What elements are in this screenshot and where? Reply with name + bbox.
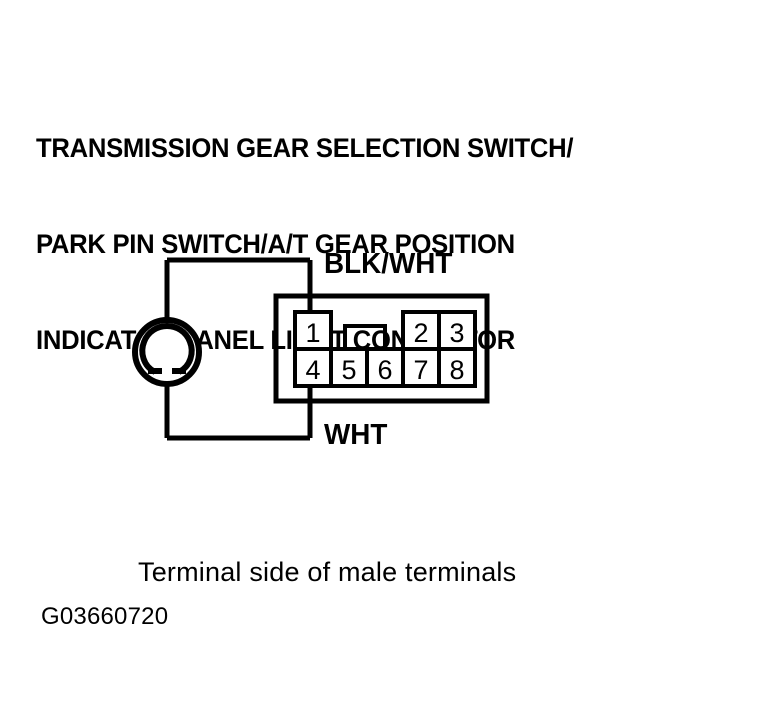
wiring-diagram [0, 0, 774, 703]
pin-number-4: 4 [295, 357, 331, 384]
pin-number-7: 7 [403, 357, 439, 384]
pin-number-5: 5 [331, 357, 367, 384]
pin-number-6: 6 [367, 357, 403, 384]
pin-number-2: 2 [403, 320, 439, 347]
diagram-page: TRANSMISSION GEAR SELECTION SWITCH/ PARK… [0, 0, 774, 703]
connector-locking-tab [345, 326, 385, 349]
diagram-caption: Terminal side of male terminals [138, 557, 516, 588]
figure-code: G03660720 [41, 603, 168, 631]
pin-number-3: 3 [439, 320, 475, 347]
pin-number-8: 8 [439, 357, 475, 384]
wire-label-wht: WHT [324, 419, 387, 452]
pin-number-1: 1 [295, 320, 331, 347]
wire-label-blk-wht: BLK/WHT [324, 248, 452, 281]
